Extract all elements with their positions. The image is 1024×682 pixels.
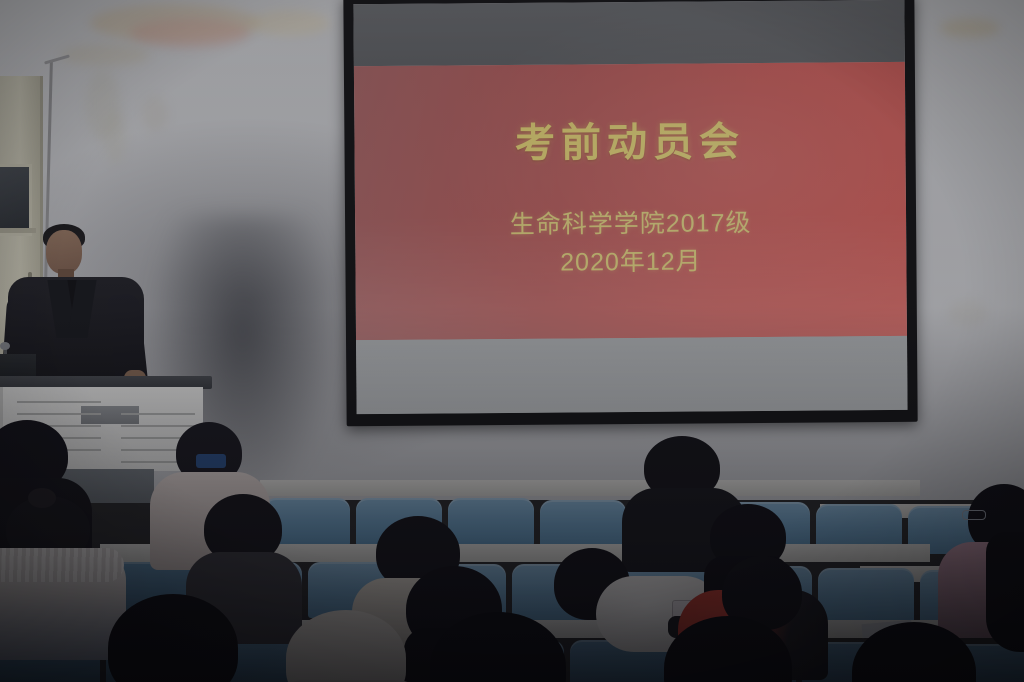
lecture-hall-photo: 考前动员会 生命科学学院2017级 2020年12月 [0,0,1024,682]
letterbox-top [353,0,904,66]
fur-trim [0,548,124,582]
seat[interactable] [818,568,914,624]
slide-title: 考前动员会 [354,108,905,170]
presentation-slide: 考前动员会 生命科学学院2017级 2020年12月 [354,61,907,340]
audience-seating [0,470,1024,682]
hair-clip [196,454,226,468]
seat[interactable] [448,498,534,546]
slide-subtitle-line-2: 2020年12月 [355,242,906,284]
letterbox-bottom [356,336,908,414]
projection-surface: 考前动员会 生命科学学院2017级 2020年12月 [353,0,907,414]
microphone-icon [0,342,10,350]
student-hair-long [986,532,1024,652]
seat[interactable] [540,500,626,548]
projection-screen: 考前动员会 生命科学学院2017级 2020年12月 [343,0,917,426]
desk-row-back [260,480,920,496]
slide-subtitle-line-1: 生命科学学院2017级 [355,204,906,246]
slide-subtitle: 生命科学学院2017级 2020年12月 [355,204,907,283]
lectern-plaque [81,406,139,424]
podium-monitor [0,354,36,378]
presenter-head [46,230,82,274]
glasses-icon [962,510,986,520]
hair-bun [28,488,56,508]
